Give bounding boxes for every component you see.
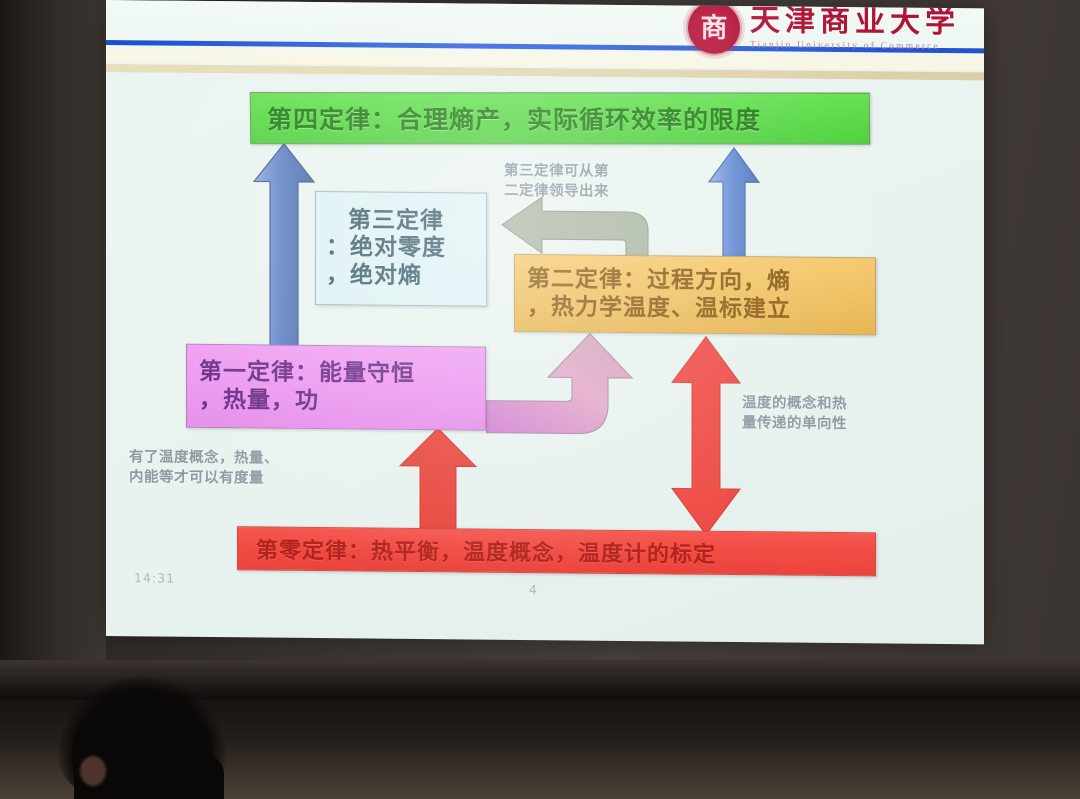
second-law-line2: ，热力学温度、温标建立 [527,293,791,324]
third-law-box[interactable]: 第三定律 ：绝对零度 ，绝对熵 [315,191,487,307]
fourth-law-box[interactable]: 第四定律：合理熵产，实际循环效率的限度 [250,92,870,145]
university-name-en: Tianjin University of Commerce [750,41,960,53]
second-law-line1: 第二定律：过程方向，熵 [527,265,791,296]
annotation-measurable-quantities: 有了温度概念，热量、 内能等才可以有度量 [129,448,369,489]
seal-glyph: 商 [701,14,728,41]
zeroth-law-box[interactable]: 第零定律：热平衡，温度概念，温度计的标定 [237,526,876,576]
annotation-degree-line2: 内能等才可以有度量 [129,468,369,490]
arrow-zeroth-to-first-law [398,426,478,535]
presentation-slide: 商 天津商业大学 Tianjin University of Commerce [106,0,984,644]
slide-page-number: 4 [529,582,538,597]
annotation-third-from-second: 第三定律可从第 二定律领导出来 [504,162,674,203]
arrow-first-to-second-law-curved [486,331,662,437]
first-law-box[interactable]: 第一定律：能量守恒 ，热量，功 [186,344,486,431]
zeroth-law-label: 第零定律：热平衡，温度概念，温度计的标定 [256,532,716,568]
annotation-temp-line2: 量传递的单向性 [742,414,902,435]
third-law-line2: ：绝对零度 [326,235,446,263]
arrow-zeroth-second-law-bidirectional [670,334,742,537]
annotation-temp-line1: 温度的概念和热 [742,394,902,415]
screen-left-surround [0,0,106,700]
arrow-second-to-fourth-law [707,146,761,263]
university-name-block: 天津商业大学 Tianjin University of Commerce [750,6,960,53]
fourth-law-label: 第四定律：合理熵产，实际循环效率的限度 [267,100,761,136]
arrow-first-to-fourth-law [252,141,316,368]
university-seal-icon: 商 [688,2,740,54]
projected-slide-photo: 商 天津商业大学 Tianjin University of Commerce [0,0,1080,799]
annotation-degree-line1: 有了温度概念，热量、 [129,448,369,470]
university-name-cn: 天津商业大学 [750,6,960,38]
first-law-line2: ，热量，功 [199,386,319,415]
slide-time: 14:31 [134,570,175,585]
annotation-third-line1: 第三定律可从第 [504,162,674,183]
first-law-line1: 第一定律：能量守恒 [199,358,415,388]
university-logo: 商 天津商业大学 Tianjin University of Commerce [688,2,960,57]
third-law-line1: 第三定律 [326,207,444,235]
second-law-box[interactable]: 第二定律：过程方向，熵 ，热力学温度、温标建立 [514,254,876,335]
annotation-temperature-concept: 温度的概念和热 量传递的单向性 [742,394,902,435]
third-law-line3: ，绝对熵 [326,262,422,290]
annotation-third-line2: 二定律领导出来 [504,181,674,202]
audience-ear [80,756,106,786]
